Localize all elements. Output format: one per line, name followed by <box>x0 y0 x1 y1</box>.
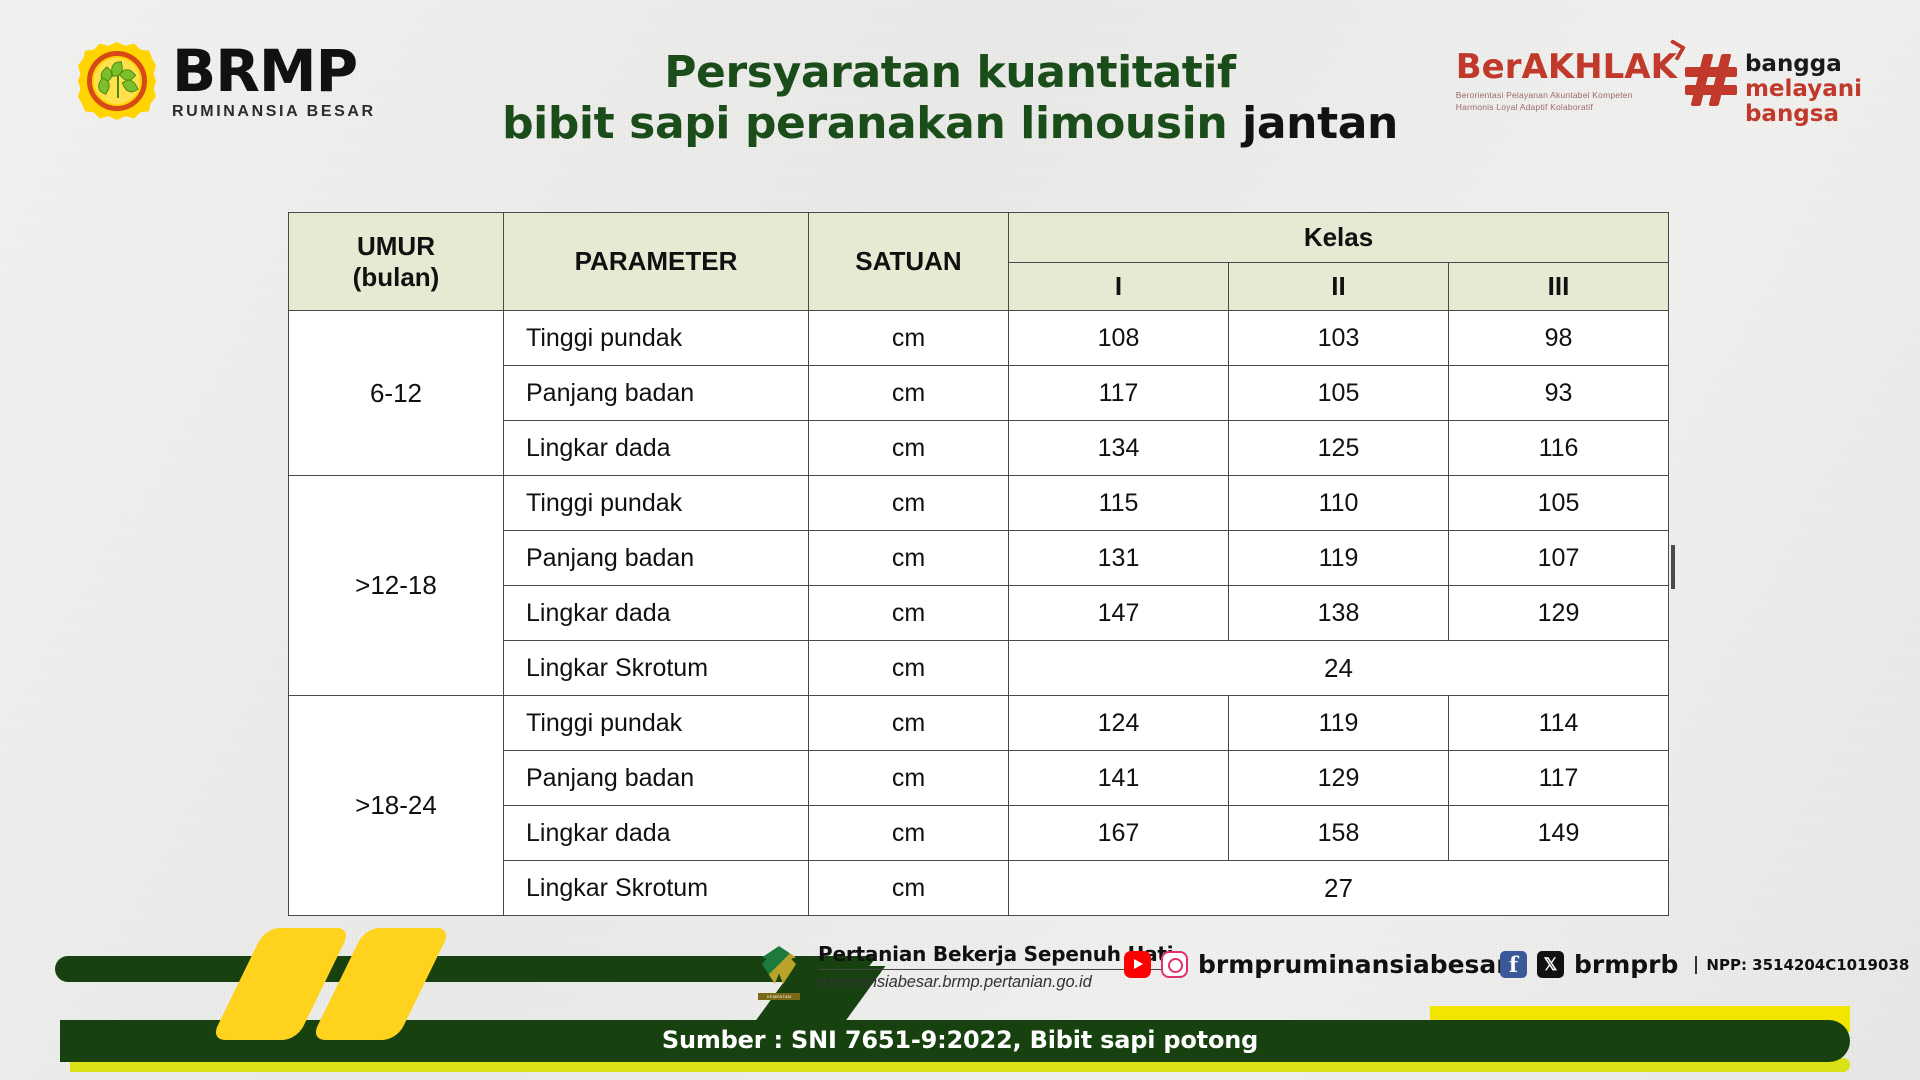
cell-parameter: Tinggi pundak <box>504 311 809 366</box>
social-group-instagram: brmpruminansiabesar <box>1124 950 1509 979</box>
cell-value-kelas-2: 105 <box>1229 366 1449 421</box>
cell-value-kelas-1: 141 <box>1009 751 1229 806</box>
cell-value-kelas-2: 158 <box>1229 806 1449 861</box>
cell-parameter: Lingkar Skrotum <box>504 641 809 696</box>
border-artifact-mark <box>1671 545 1675 589</box>
footer-tagline: Pertanian Bekerja Sepenuh Hati <box>818 942 1173 966</box>
cell-value-kelas-3: 114 <box>1449 696 1669 751</box>
cell-value-kelas-1: 134 <box>1009 421 1229 476</box>
cell-satuan: cm <box>809 751 1009 806</box>
title-line-2-dark: jantan <box>1242 98 1398 149</box>
cell-value-kelas-3: 129 <box>1449 586 1669 641</box>
cell-value-kelas-2: 103 <box>1229 311 1449 366</box>
hashtag-icon <box>1685 54 1737 106</box>
cell-satuan: cm <box>809 806 1009 861</box>
cell-value-kelas-2: 138 <box>1229 586 1449 641</box>
cell-satuan: cm <box>809 586 1009 641</box>
source-citation: Sumber : SNI 7651-9:2022, Bibit sapi pot… <box>0 1026 1920 1054</box>
cell-value-kelas-3: 107 <box>1449 531 1669 586</box>
cell-satuan: cm <box>809 366 1009 421</box>
cell-value-kelas-1: 147 <box>1009 586 1229 641</box>
cell-value-kelas-1: 131 <box>1009 531 1229 586</box>
cell-value-kelas-1: 124 <box>1009 696 1229 751</box>
cell-value-kelas-1: 108 <box>1009 311 1229 366</box>
cell-value-kelas-1: 167 <box>1009 806 1229 861</box>
cell-parameter: Tinggi pundak <box>504 696 809 751</box>
column-header-kelas: Kelas <box>1009 213 1669 263</box>
column-header-satuan: SATUAN <box>809 213 1009 311</box>
column-header-umur-sub: (bulan) <box>293 262 499 293</box>
slogan-line-3: bangsa <box>1745 102 1862 127</box>
title-line-2-green: bibit sapi peranakan limousin <box>502 98 1227 149</box>
instagram-icon[interactable] <box>1161 951 1188 978</box>
berakhlak-akhlak: AKHLAK <box>1522 47 1677 87</box>
cell-satuan: cm <box>809 696 1009 751</box>
cell-parameter: Lingkar dada <box>504 421 809 476</box>
brand-subtitle: RUMINANSIA BESAR <box>172 104 376 120</box>
cell-value-kelas-2: 125 <box>1229 421 1449 476</box>
cell-value-kelas-2: 119 <box>1229 696 1449 751</box>
cell-value-kelas-3: 117 <box>1449 751 1669 806</box>
social-handle-instagram[interactable]: brmpruminansiabesar <box>1198 950 1509 979</box>
facebook-icon[interactable]: f <box>1500 951 1527 978</box>
cell-value-merged: 24 <box>1009 641 1669 696</box>
cell-value-kelas-3: 116 <box>1449 421 1669 476</box>
brmp-logo: BRMP RUMINANSIA BESAR <box>78 42 376 120</box>
specification-table-container: UMUR (bulan) PARAMETER SATUAN Kelas I II… <box>288 212 1668 916</box>
cell-parameter: Tinggi pundak <box>504 476 809 531</box>
kementan-logo-icon: KEMENTAN <box>756 944 804 1000</box>
specification-table: UMUR (bulan) PARAMETER SATUAN Kelas I II… <box>288 212 1669 916</box>
cell-value-kelas-3: 98 <box>1449 311 1669 366</box>
page-header: BRMP RUMINANSIA BESAR Persyaratan kuanti… <box>0 0 1920 180</box>
npp-number: NPP: 3514204C1019038 <box>1695 956 1909 974</box>
cell-satuan: cm <box>809 641 1009 696</box>
footer-info-row: KEMENTAN Pertanian Bekerja Sepenuh Hati … <box>0 942 1920 1002</box>
title-line-1: Persyaratan kuantitatif <box>440 48 1460 97</box>
cell-parameter: Panjang badan <box>504 751 809 806</box>
cell-satuan: cm <box>809 421 1009 476</box>
berakhlak-subtitle-2: Harmonis Loyal Adaptif Kolaboratif <box>1456 101 1677 113</box>
cell-satuan: cm <box>809 311 1009 366</box>
social-handle-facebook[interactable]: brmprb <box>1574 950 1678 979</box>
cell-value-kelas-2: 119 <box>1229 531 1449 586</box>
table-row: 6-12Tinggi pundakcm10810398 <box>289 311 1669 366</box>
cell-parameter: Lingkar dada <box>504 806 809 861</box>
cell-umur: >18-24 <box>289 696 504 916</box>
berakhlak-subtitle-1: Berorientasi Pelayanan Akuntabel Kompete… <box>1456 89 1677 101</box>
footer-website[interactable]: ruminansiabesar.brmp.pertanian.go.id <box>818 969 1173 993</box>
slogan-line-2: melayani <box>1745 77 1862 102</box>
x-twitter-icon[interactable]: 𝕏 <box>1537 951 1564 978</box>
berakhlak-ber: Ber <box>1456 47 1522 87</box>
cell-umur: 6-12 <box>289 311 504 476</box>
cell-value-kelas-2: 129 <box>1229 751 1449 806</box>
cell-parameter: Panjang badan <box>504 366 809 421</box>
table-body: 6-12Tinggi pundakcm10810398Panjang badan… <box>289 311 1669 916</box>
column-header-umur: UMUR (bulan) <box>289 213 504 311</box>
table-row: >18-24Tinggi pundakcm124119114 <box>289 696 1669 751</box>
cell-satuan: cm <box>809 531 1009 586</box>
cell-value-kelas-1: 115 <box>1009 476 1229 531</box>
table-header: UMUR (bulan) PARAMETER SATUAN Kelas I II… <box>289 213 1669 311</box>
cell-value-kelas-1: 117 <box>1009 366 1229 421</box>
column-header-parameter: PARAMETER <box>504 213 809 311</box>
youtube-icon[interactable] <box>1124 951 1151 978</box>
berakhlak-logo: BerAKHLAK Berorientasi Pelayanan Akuntab… <box>1456 44 1862 126</box>
ministry-of-agriculture-badge-icon <box>78 42 156 120</box>
cell-value-kelas-2: 110 <box>1229 476 1449 531</box>
column-header-kelas-1: I <box>1009 263 1229 311</box>
footer-tagline-block: Pertanian Bekerja Sepenuh Hati ruminansi… <box>818 942 1173 993</box>
cell-parameter: Panjang badan <box>504 531 809 586</box>
column-header-kelas-2: II <box>1229 263 1449 311</box>
social-group-facebook: f 𝕏 brmprb NPP: 3514204C1019038 <box>1500 950 1909 979</box>
cell-value-kelas-3: 149 <box>1449 806 1669 861</box>
table-row: >12-18Tinggi pundakcm115110105 <box>289 476 1669 531</box>
cell-parameter: Lingkar dada <box>504 586 809 641</box>
brand-name: BRMP <box>172 42 376 100</box>
cell-value-kelas-3: 93 <box>1449 366 1669 421</box>
page-title: Persyaratan kuantitatif bibit sapi peran… <box>440 48 1460 149</box>
column-header-kelas-3: III <box>1449 263 1669 311</box>
cell-umur: >12-18 <box>289 476 504 696</box>
column-header-umur-main: UMUR <box>293 231 499 262</box>
cell-value-kelas-3: 105 <box>1449 476 1669 531</box>
cell-satuan: cm <box>809 476 1009 531</box>
page-footer: KEMENTAN Pertanian Bekerja Sepenuh Hati … <box>0 900 1920 1080</box>
slogan-line-1: bangga <box>1745 52 1862 77</box>
